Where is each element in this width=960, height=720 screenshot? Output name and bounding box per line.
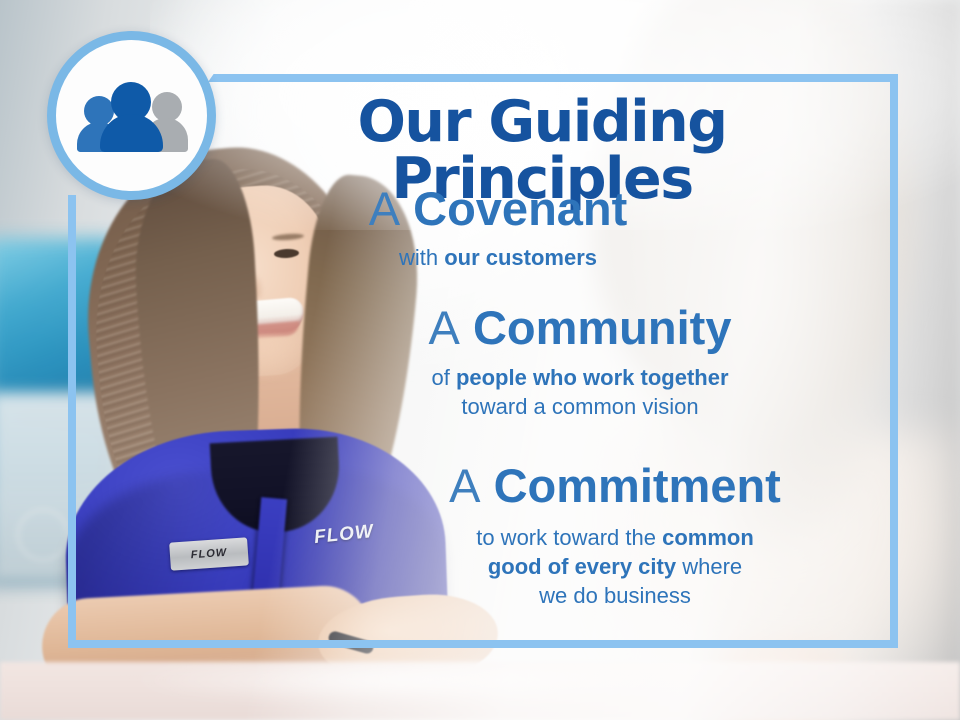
principle-commitment-sub1-plain: to work toward the: [476, 525, 662, 550]
principle-commitment-sub3-plain: we do business: [539, 583, 691, 608]
principle-covenant-heading: A Covenant: [238, 184, 758, 234]
principle-commitment-sub2-bold: good of every city: [488, 554, 676, 579]
principle-covenant-keyword: Covenant: [413, 182, 627, 235]
principle-community-sub1-plain: of: [431, 365, 455, 390]
principle-covenant-sub-plain: with: [399, 245, 444, 270]
principle-commitment: A Commitment to work toward the common g…: [330, 461, 900, 610]
people-group-icon: [78, 80, 186, 152]
principle-covenant-sub-bold: our customers: [444, 245, 597, 270]
name-badge-text: FLOW: [169, 537, 249, 570]
principle-covenant-article: A: [369, 182, 400, 235]
principle-community-article: A: [429, 301, 460, 354]
person-grey-head: [152, 92, 182, 122]
desk-glare: [120, 664, 680, 704]
employee-name-badge: FLOW: [169, 537, 249, 570]
principle-community-heading: A Community: [300, 303, 860, 353]
principle-commitment-keyword: Commitment: [494, 459, 781, 512]
marketing-graphic: FLOW FLOW Our Guiding Principles: [0, 0, 960, 720]
principle-community-sub1-bold: people who work together: [456, 365, 729, 390]
principle-commitment-sub1-bold: common: [662, 525, 754, 550]
people-badge: [47, 31, 216, 200]
principle-commitment-heading: A Commitment: [330, 461, 900, 511]
principle-covenant: A Covenant with our customers: [238, 184, 758, 272]
principle-community-subtext: of people who work together toward a com…: [300, 363, 860, 421]
principle-commitment-article: A: [449, 459, 480, 512]
principle-community-keyword: Community: [473, 301, 732, 354]
principle-community-sub2-plain: toward a common vision: [461, 394, 698, 419]
principle-covenant-subtext: with our customers: [238, 243, 758, 272]
principle-commitment-sub2-plain: where: [676, 554, 742, 579]
principle-community: A Community of people who work together …: [300, 303, 860, 421]
principle-commitment-subtext: to work toward the common good of every …: [330, 523, 900, 610]
